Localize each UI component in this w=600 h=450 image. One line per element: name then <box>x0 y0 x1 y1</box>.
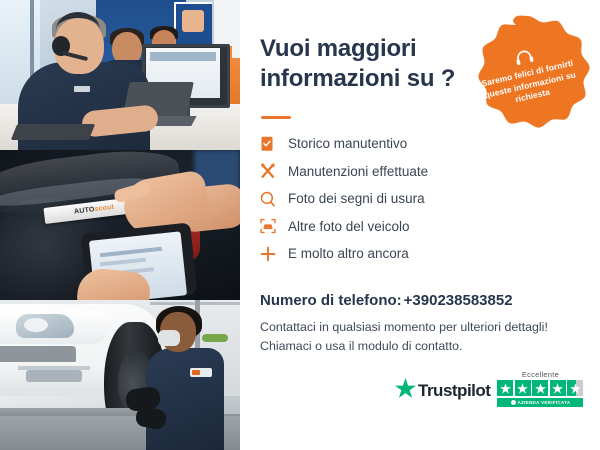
feature-item-and-more: E molto altro ancora <box>260 240 580 268</box>
magnifier-icon <box>260 191 286 207</box>
car-fog-light <box>26 370 82 382</box>
title-divider <box>261 116 291 119</box>
feature-item-wear-photos: Foto dei segni di usura <box>260 185 580 213</box>
crossed-tools-icon <box>260 163 286 179</box>
photo-column: AUTOscout <box>0 0 240 450</box>
car-scan-frame-icon <box>260 218 286 234</box>
feature-list: Storico manutentivo Manutenzioni effettu… <box>260 130 580 268</box>
contact-line-2: Chiamaci o usa il modulo di contatto. <box>260 337 590 356</box>
trustpilot-star-filled <box>550 380 566 396</box>
feature-label: Storico manutentivo <box>286 137 407 151</box>
wall-poster-image <box>182 10 204 32</box>
page-title: Vuoi maggiori informazioni su ? <box>260 34 490 94</box>
feature-item-maintenance-done: Manutenzioni effettuate <box>260 158 580 186</box>
badge-text: Saremo felici di fornirti queste informa… <box>475 56 584 114</box>
keyboard <box>11 124 95 140</box>
check-icon <box>511 400 516 405</box>
trustpilot-star-filled <box>532 380 548 396</box>
car-headlight-lens <box>24 318 48 332</box>
feature-item-more-vehicle-photos: Altre foto del veicolo <box>260 213 580 241</box>
phone-label: Numero di telefono: <box>260 292 402 309</box>
phone-block: Numero di telefono:+390238583852 <box>260 292 513 309</box>
mechanic-face-mask <box>158 330 180 346</box>
mechanic-uniform-logo <box>190 368 212 377</box>
trustpilot-rating[interactable]: Trustpilot Eccellente <box>395 370 583 407</box>
promo-card: AUTOscout <box>0 0 600 450</box>
info-on-request-badge: Saremo felici di fornirti queste informa… <box>466 14 590 138</box>
contact-text: Contattaci in qualsiasi momento per ulte… <box>260 318 590 356</box>
green-hose <box>202 334 228 342</box>
page-title-line-2: informazioni su ? <box>260 64 490 94</box>
trustpilot-logo: Trustpilot <box>395 378 490 403</box>
trustpilot-rating-label: Eccellente <box>497 370 583 379</box>
plus-icon <box>260 246 286 262</box>
feature-label: Manutenzioni effettuate <box>286 165 428 179</box>
feature-label: E molto altro ancora <box>286 247 409 261</box>
trustpilot-wordmark: Trustpilot <box>418 381 490 401</box>
headset-icon <box>513 47 535 67</box>
call-center-operators-photo <box>0 0 240 150</box>
verified-company-badge: AZIENDA VERIFICATA <box>497 398 583 407</box>
trustpilot-star-filled <box>497 380 513 396</box>
verified-company-label: AZIENDA VERIFICATA <box>518 400 571 405</box>
trustpilot-star-filled <box>515 380 531 396</box>
car-inspection-gauge-photo: AUTOscout <box>0 150 240 300</box>
feature-label: Foto dei segni di usura <box>286 192 425 206</box>
contact-line-1: Contattaci in qualsiasi momento per ulte… <box>260 318 590 337</box>
badge-content: Saremo felici di fornirti queste informa… <box>454 2 600 151</box>
trustpilot-score-block: Eccellente <box>497 370 583 407</box>
trustpilot-star-partial <box>567 380 583 396</box>
person-1-badge <box>74 86 90 92</box>
mechanic-wheel-inspection-photo <box>0 300 240 450</box>
checklist-document-icon <box>260 136 286 152</box>
trustpilot-stars <box>497 380 583 396</box>
monitor-screen-toolbar <box>150 52 216 61</box>
phone-number[interactable]: +390238583852 <box>404 292 513 309</box>
feature-item-maintenance-history: Storico manutentivo <box>260 130 580 158</box>
feature-label: Altre foto del veicolo <box>286 220 410 234</box>
content-panel: Vuoi maggiori informazioni su ? Saremo f… <box>240 0 600 450</box>
trustpilot-star-icon <box>395 378 416 403</box>
